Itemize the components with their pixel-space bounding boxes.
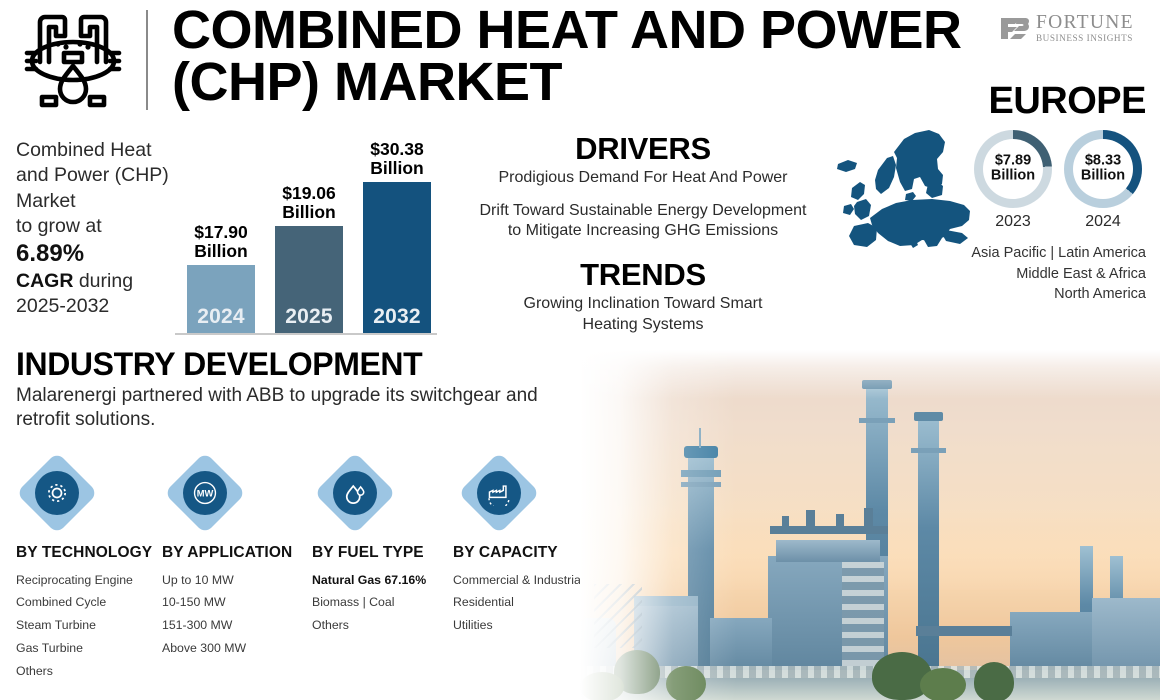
donut-2023-value-amount: $7.89: [995, 153, 1031, 169]
list-item: Gas Turbine: [16, 642, 166, 654]
segment-column-fuel-type: BY FUEL TYPE Natural Gas 67.16% Biomass …: [312, 545, 457, 642]
statement-line1: Combined Heat: [16, 139, 152, 161]
donut-2023-value: $7.89 Billion: [974, 154, 1052, 185]
gas-cylinder-icon: [14, 8, 132, 112]
factory-gear-icon: [477, 471, 521, 515]
donut-2024-year: 2024: [1064, 213, 1142, 231]
page-title-line1: COMBINED HEAT AND POWER: [172, 0, 961, 60]
page-title-line2: (CHP) MARKET: [172, 56, 962, 108]
statement-line2: and Power (CHP): [16, 164, 169, 186]
list-item: Others: [16, 665, 166, 677]
list-item: Up to 10 MW: [162, 574, 312, 586]
segment-column-application: BY APPLICATION Up to 10 MW 10-150 MW 151…: [162, 545, 312, 665]
page-title: COMBINED HEAT AND POWER (CHP) MARKET: [172, 4, 962, 109]
bar-value-2025: $19.06: [282, 183, 336, 203]
infographic-page: COMBINED HEAT AND POWER (CHP) MARKET FOR…: [0, 0, 1160, 700]
segment-title-fuel-type: BY FUEL TYPE: [312, 545, 457, 561]
svg-text:MW: MW: [197, 489, 214, 499]
segment-columns: BY TECHNOLOGY Reciprocating Engine Combi…: [0, 545, 580, 695]
market-statement: Combined Heat and Power (CHP) Market to …: [16, 138, 186, 319]
industry-development-heading: INDUSTRY DEVELOPMENT: [16, 348, 422, 380]
europe-map-icon: [832, 118, 978, 250]
photo-louvre-panel: [842, 562, 884, 666]
bar-year-2032: 2032: [363, 305, 431, 329]
drivers-heading: DRIVERS: [452, 132, 834, 165]
donut-2023-value-unit: Billion: [991, 168, 1035, 184]
donut-chart-2024: $8.33 Billion: [1064, 130, 1142, 208]
donut-2023-year: 2023: [974, 213, 1052, 231]
bar-label-2025: $19.06 Billion: [261, 184, 357, 222]
segment-title-technology: BY TECHNOLOGY: [16, 545, 166, 561]
industry-development-body: Malarenergi partnered with ABB to upgrad…: [16, 384, 576, 431]
bar-value-2024: $17.90: [194, 222, 248, 242]
trends-item-1-line2: Heating Systems: [583, 316, 704, 333]
segment-column-technology: BY TECHNOLOGY Reciprocating Engine Combi…: [16, 545, 166, 687]
segment-list-technology: Reciprocating Engine Combined Cycle Stea…: [16, 574, 166, 677]
brand-subtitle: BUSINESS INSIGHTS: [1036, 34, 1134, 43]
power-plant-photo: [580, 350, 1160, 700]
statement-line3: Market: [16, 190, 76, 212]
photo-tree-5: [974, 662, 1014, 700]
list-item: Reciprocating Engine: [16, 574, 166, 586]
segment-list-fuel-type: Natural Gas 67.16% Biomass | Coal Others: [312, 574, 457, 632]
trends-item-1-line1: Growing Inclination Toward Smart: [524, 295, 763, 312]
statement-during-word: during: [73, 270, 133, 292]
bar-group-2024: $17.90 Billion 2024: [187, 265, 255, 333]
bar-2024: $17.90 Billion 2024: [187, 265, 255, 333]
donut-2024-value-unit: Billion: [1081, 168, 1125, 184]
header: COMBINED HEAT AND POWER (CHP) MARKET FOR…: [0, 0, 1160, 120]
industry-development-body-line1: Malarenergi partnered with ABB to upgrad…: [16, 385, 538, 406]
bar-group-2025: $19.06 Billion 2025: [275, 226, 343, 333]
photo-stack-main-mast: [699, 428, 701, 448]
bar-year-2024: 2024: [187, 305, 255, 329]
drivers-item-2: Drift Toward Sustainable Energy Developm…: [452, 201, 834, 242]
photo-pipe-rack-leg-4: [864, 508, 873, 532]
bar-year-2025: 2025: [275, 305, 343, 329]
statement-cagr-word: CAGR: [16, 270, 73, 292]
megawatt-icon: MW: [183, 471, 227, 515]
photo-pipe-rack-leg-1: [782, 516, 789, 532]
drivers-item-1: Prodigious Demand For Heat And Power: [452, 168, 834, 188]
photo-plant-block-upper: [776, 540, 880, 562]
bar-value-2032: $30.38: [370, 139, 424, 159]
photo-pipe-rack-leg-2: [806, 510, 815, 532]
region-title: EUROPE: [989, 82, 1146, 120]
list-item: Natural Gas 67.16%: [312, 574, 457, 586]
segment-list-application: Up to 10 MW 10-150 MW 151-300 MW Above 3…: [162, 574, 312, 655]
industry-development-body-line2: retrofit solutions.: [16, 409, 155, 430]
drivers-item-2-line2: to Mitigate Increasing GHG Emissions: [508, 222, 778, 239]
bar-group-2032: $30.38 Billion 2032: [363, 182, 431, 333]
trends-item-1: Growing Inclination Toward Smart Heating…: [452, 294, 834, 335]
donut-chart-2023: $7.89 Billion: [974, 130, 1052, 208]
bar-2025: $19.06 Billion 2025: [275, 226, 343, 333]
segment-icons-row: MW: [0, 452, 580, 534]
brand-name: FORTUNE: [1036, 13, 1134, 33]
photo-conveyor: [916, 626, 1012, 636]
photo-tree-6: [580, 672, 624, 700]
photo-tree-4: [920, 668, 966, 700]
photo-pipe-rack-leg-3: [836, 514, 844, 532]
trends-heading: TRENDS: [452, 258, 834, 291]
bar-label-2032: $30.38 Billion: [349, 140, 445, 178]
statement-period: 2025-2032: [16, 295, 109, 317]
bar-label-2024: $17.90 Billion: [173, 223, 269, 261]
segment-title-application: BY APPLICATION: [162, 545, 312, 561]
donut-2024-value-amount: $8.33: [1085, 153, 1121, 169]
other-regions-list: Asia Pacific | Latin America Middle East…: [896, 243, 1146, 305]
other-regions-line2: Middle East & Africa: [1016, 266, 1146, 282]
bar-unit-2032: Billion: [370, 158, 423, 178]
photo-building-left-roof: [634, 596, 698, 606]
bar-unit-2025: Billion: [282, 202, 335, 222]
list-item: 151-300 MW: [162, 619, 312, 631]
fortune-business-insights-logo: FORTUNE BUSINESS INSIGHTS: [1000, 8, 1148, 48]
fbi-logo-mark-icon: [1000, 14, 1030, 42]
photo-tree-2: [666, 666, 706, 700]
list-item: Combined Cycle: [16, 596, 166, 608]
drivers-trends-block: DRIVERS Prodigious Demand For Heat And P…: [452, 132, 834, 335]
donut-2024-value: $8.33 Billion: [1064, 154, 1142, 185]
list-item: 10-150 MW: [162, 596, 312, 608]
bar-unit-2024: Billion: [194, 241, 247, 261]
list-item: Biomass | Coal: [312, 596, 457, 608]
market-bar-chart: $17.90 Billion 2024 $19.06 Billion 2025 …: [175, 140, 437, 335]
statement-cagr-value: 6.89%: [16, 239, 186, 268]
water-drop-icon: [333, 471, 377, 515]
list-item: Steam Turbine: [16, 619, 166, 631]
other-regions-line1: Asia Pacific | Latin America: [971, 245, 1146, 261]
list-item: Above 300 MW: [162, 642, 312, 654]
gear-icon: [35, 471, 79, 515]
statement-line4: to grow at: [16, 215, 102, 237]
list-item: Others: [312, 619, 457, 631]
other-regions-line3: North America: [1054, 286, 1146, 302]
chart-baseline: [175, 333, 437, 335]
header-divider: [146, 10, 148, 110]
drivers-item-2-line1: Drift Toward Sustainable Energy Developm…: [480, 202, 807, 219]
photo-lattice-tower: [594, 584, 642, 648]
bar-2032: $30.38 Billion 2032: [363, 182, 431, 333]
